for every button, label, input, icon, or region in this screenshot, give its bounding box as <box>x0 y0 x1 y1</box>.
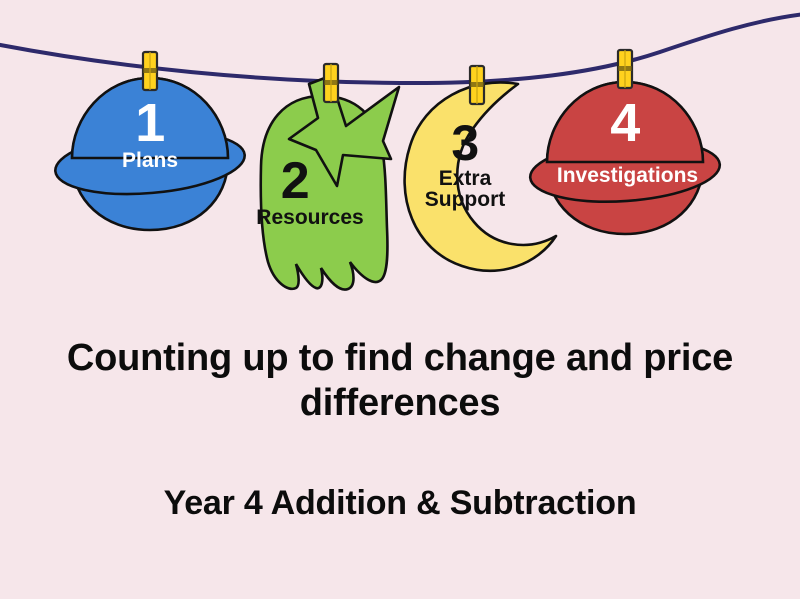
clothes-peg-2 <box>324 64 338 102</box>
item-2-leaf-star-green[interactable] <box>261 76 399 290</box>
clothes-peg-3 <box>470 66 484 104</box>
item-4-planet-red[interactable] <box>528 82 722 234</box>
clothes-peg-4 <box>618 50 632 88</box>
planet-4-cap <box>547 82 703 162</box>
clothes-peg-1 <box>143 52 157 90</box>
slide-canvas: 1 Plans 2 Resources 3 Extra Support 4 In… <box>0 0 800 599</box>
page-subtitle: Year 4 Addition & Subtraction <box>40 484 760 523</box>
item-1-planet-blue[interactable] <box>53 78 248 230</box>
page-title: Counting up to find change and price dif… <box>40 336 760 426</box>
washing-line-wire <box>0 14 800 83</box>
